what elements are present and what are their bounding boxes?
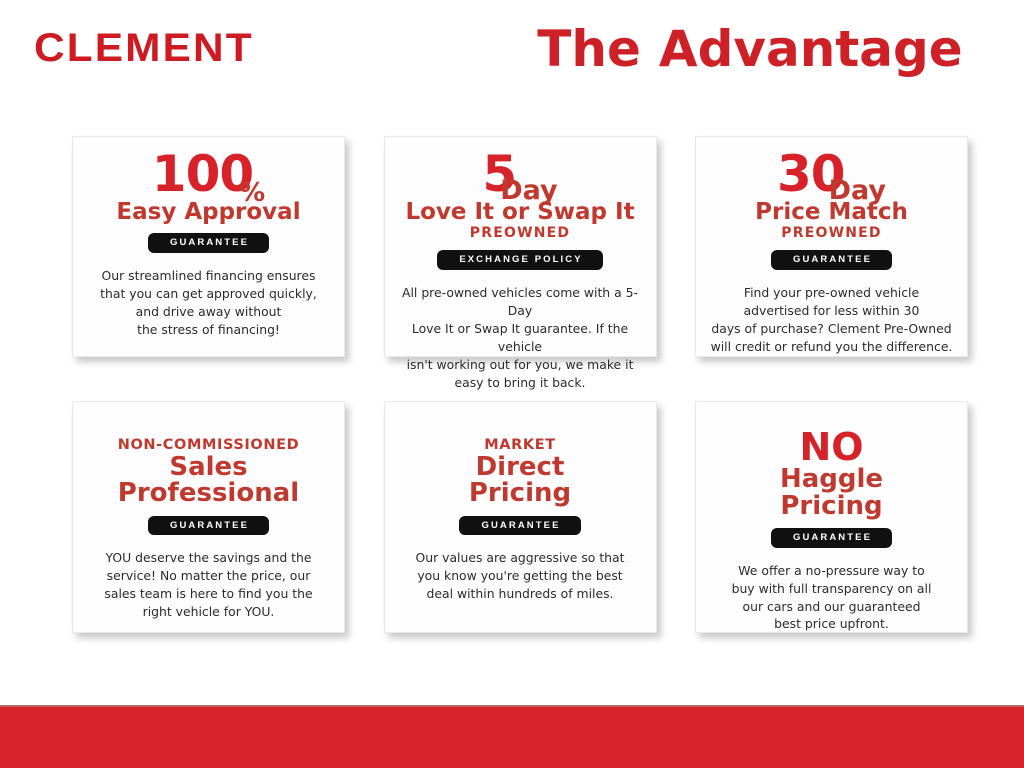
headline-line-2: Pricing	[708, 493, 955, 520]
headline-suffix: %	[239, 178, 265, 208]
card-description: YOU deserve the savings and the service!…	[85, 549, 332, 621]
card-row-1: 100% Easy Approval GUARANTEE Our streaml…	[72, 136, 968, 357]
headline-line-1: Direct	[397, 454, 644, 481]
headline-preowned-label: PREOWNED	[708, 225, 955, 241]
headline-big-number: 100	[152, 145, 253, 203]
exchange-policy-badge: EXCHANGE POLICY	[437, 250, 602, 270]
card-headline: 100% Easy Approval	[85, 151, 332, 224]
card-non-commissioned-sales[interactable]: NON-COMMISSIONED Sales Professional GUAR…	[72, 401, 345, 633]
card-description: Find your pre-owned vehicle advertised f…	[708, 284, 955, 356]
page-title-word-advantage: Advantage	[659, 20, 963, 78]
card-description: We offer a no-pressure way to buy with f…	[708, 562, 955, 634]
card-row-2: NON-COMMISSIONED Sales Professional GUAR…	[72, 401, 968, 633]
advantage-card-grid: 100% Easy Approval GUARANTEE Our streaml…	[72, 136, 968, 633]
guarantee-badge: GUARANTEE	[771, 528, 892, 548]
card-headline: 30Day Price Match PREOWNED	[708, 151, 955, 241]
card-description: Our streamlined financing ensures that y…	[85, 267, 332, 339]
headline-combo: 5Day	[397, 151, 644, 199]
guarantee-badge: GUARANTEE	[771, 250, 892, 270]
card-five-day-swap[interactable]: 5Day Love It or Swap It PREOWNED EXCHANG…	[384, 136, 657, 357]
headline-line-1: Haggle	[708, 466, 955, 493]
guarantee-badge: GUARANTEE	[148, 516, 269, 536]
headline-combo: 100%	[85, 151, 332, 199]
headline-suffix: Day	[500, 175, 557, 206]
footer-red-bar	[0, 705, 1024, 768]
guarantee-badge: GUARANTEE	[148, 233, 269, 253]
headline-line-1: Sales	[85, 454, 332, 481]
card-headline: 5Day Love It or Swap It PREOWNED	[397, 151, 644, 241]
headline-suffix: Day	[829, 175, 886, 206]
advantage-page: CLEMENT TheAdvantage 100% Easy Approval …	[0, 0, 1024, 768]
headline-line-2: Pricing	[397, 480, 644, 507]
headline-kicker-big: NO	[708, 428, 955, 466]
card-no-haggle-pricing[interactable]: NO Haggle Pricing GUARANTEE We offer a n…	[695, 401, 968, 633]
card-headline: MARKET Direct Pricing	[397, 438, 644, 507]
headline-line-2: Professional	[85, 480, 332, 507]
card-easy-approval[interactable]: 100% Easy Approval GUARANTEE Our streaml…	[72, 136, 345, 357]
headline-subtitle: Easy Approval	[85, 200, 332, 225]
page-title: TheAdvantage	[505, 22, 995, 77]
card-headline: NON-COMMISSIONED Sales Professional	[85, 438, 332, 507]
card-headline: NO Haggle Pricing	[708, 428, 955, 519]
card-description: All pre-owned vehicles come with a 5-Day…	[397, 284, 644, 392]
card-market-direct-pricing[interactable]: MARKET Direct Pricing GUARANTEE Our valu…	[384, 401, 657, 633]
card-description: Our values are aggressive so that you kn…	[397, 549, 644, 603]
clement-brand-logo: CLEMENT	[34, 28, 254, 68]
card-thirty-day-price-match[interactable]: 30Day Price Match PREOWNED GUARANTEE Fin…	[695, 136, 968, 357]
headline-combo: 30Day	[708, 151, 955, 199]
page-title-word-the: The	[537, 20, 641, 78]
page-header: CLEMENT TheAdvantage	[0, 0, 1024, 100]
headline-preowned-label: PREOWNED	[397, 225, 644, 241]
guarantee-badge: GUARANTEE	[459, 516, 580, 536]
